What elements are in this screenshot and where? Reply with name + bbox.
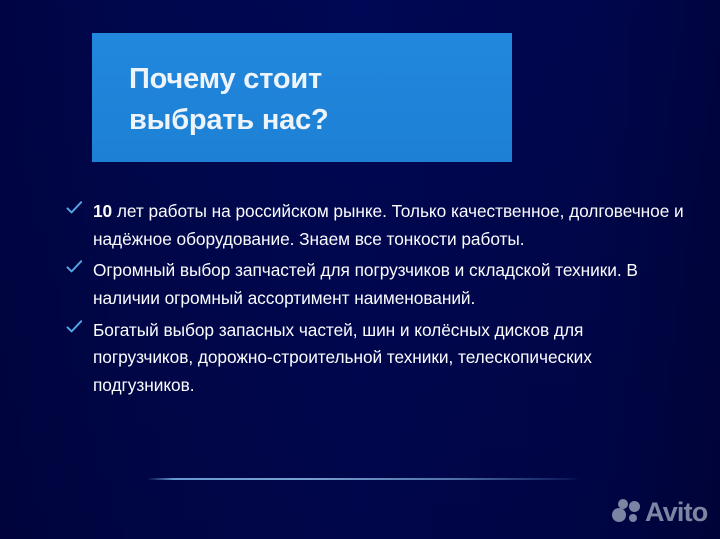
divider [148,478,580,480]
avito-dots-icon [612,499,642,525]
page-title-line-1: Почему стоит [129,59,489,100]
page-title: Почему стоит выбрать нас? [129,59,489,142]
list-item-text: 10 лет работы на российском рынке. Тольк… [93,198,686,253]
list-item: Богатый выбор запасных частей, шин и кол… [66,317,686,400]
list-item-body: лет работы на российском рынке. Только к… [93,201,684,249]
check-icon [66,259,84,277]
list-item: Огромный выбор запчастей для погрузчиков… [66,257,686,312]
avito-watermark: Avito [612,496,708,528]
list-item-body: Огромный выбор запчастей для погрузчиков… [93,260,638,308]
page-title-line-2: выбрать нас? [129,100,489,141]
list-item-text: Богатый выбор запасных частей, шин и кол… [93,317,686,400]
list-item: 10 лет работы на российском рынке. Тольк… [66,198,686,253]
benefits-list: 10 лет работы на российском рынке. Тольк… [66,198,686,404]
presentation-slide: Почему стоит выбрать нас? 10 лет работы … [0,0,720,539]
list-item-body: Богатый выбор запасных частей, шин и кол… [93,320,592,395]
list-item-text: Огромный выбор запчастей для погрузчиков… [93,257,686,312]
avito-wordmark: Avito [645,499,708,526]
heading-panel: Почему стоит выбрать нас? [92,33,512,162]
check-icon [66,200,84,218]
check-icon [66,319,84,337]
list-item-lead: 10 [93,201,112,221]
